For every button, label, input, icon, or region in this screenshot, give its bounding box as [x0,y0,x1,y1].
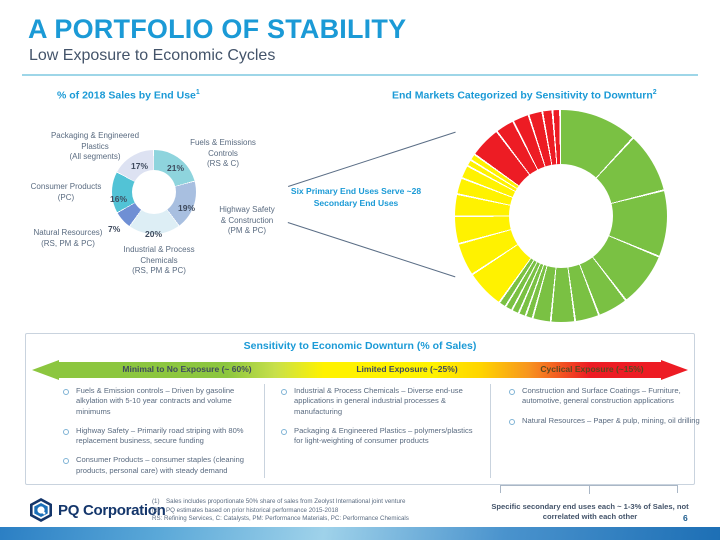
left-section-heading-footnote-marker: 1 [196,89,200,96]
header-divider [22,74,698,76]
arrow-label-minimal-exposure: Minimal to No Exposure (~ 60%) [72,364,302,374]
footnote-1-text: Sales includes proportionate 50% share o… [166,498,405,507]
right-section-heading-footnote-marker: 2 [653,89,657,96]
page-subtitle: Low Exposure to Economic Cycles [29,47,275,65]
end-markets-sensitivity-donut-chart [455,110,667,322]
donut-right-center-hole [509,164,613,268]
left-section-heading-text: % of 2018 Sales by End Use [57,90,196,102]
donut-label-natural-resources: Natural Resources) (RS, PM & PC) [24,228,112,249]
donut-center-hole [132,170,176,214]
slide: A PORTFOLIO OF STABILITY Low Exposure to… [0,0,720,540]
footnote-2-number: (2) [152,507,166,516]
footnote-1: (1) Sales includes proportionate 50% sha… [152,498,409,507]
leader-line-bottom [288,222,456,277]
left-section-heading: % of 2018 Sales by End Use1 [57,89,200,102]
right-section-heading-text: End Markets Categorized by Sensitivity t… [392,90,653,102]
page-title: A PORTFOLIO OF STABILITY [28,14,406,45]
column-divider-2 [490,384,491,478]
sensitivity-panel: Sensitivity to Economic Downturn (% of S… [25,333,695,485]
footnote-abbreviations: RS: Refining Services, C: Catalysts, PM:… [152,515,409,524]
bracket-right-tick [677,485,678,493]
page-number: 6 [683,513,688,523]
donut-value-consumer-products: 16% [110,194,127,204]
list-item: Fuels & Emission controls – Driven by ga… [60,386,260,417]
donut-label-industrial-process: Industrial & Process Chemicals (RS, PM &… [104,245,214,277]
list-item: Packaging & Engineered Plastics – polyme… [278,426,483,447]
pq-corporation-logo: PQ Corporation [28,497,165,523]
list-item: Industrial & Process Chemicals – Diverse… [278,386,483,417]
donut-value-highway-safety: 19% [178,203,195,213]
list-item: Construction and Surface Coatings – Furn… [506,386,706,407]
secondary-uses-bracket [500,485,678,494]
primary-end-uses-callout: Six Primary End Uses Serve ~28 Secondary… [284,186,428,209]
list-item: Consumer Products – consumer staples (cl… [60,455,260,476]
arrow-label-cyclical-exposure: Cyclical Exposure (~15%) [502,364,682,374]
pq-hexagon-icon [28,497,54,523]
donut-value-industrial-process: 20% [145,229,162,239]
right-section-heading: End Markets Categorized by Sensitivity t… [392,89,657,102]
donut-label-packaging-plastics: Packaging & Engineered Plastics (All seg… [41,131,149,163]
list-item: Natural Resources – Paper & pulp, mining… [506,416,706,426]
list-item: Highway Safety – Primarily road striping… [60,426,260,447]
logo-wordmark: PQ Corporation [58,502,165,519]
bullet-column-minimal-exposure: Fuels & Emission controls – Driven by ga… [60,386,260,485]
secondary-uses-note: Specific secondary end uses each ~ 1-3% … [484,502,696,522]
panel-title: Sensitivity to Economic Downturn (% of S… [26,340,694,352]
bracket-middle-tick [589,485,590,494]
leader-line-top [288,132,456,187]
bracket-left-tick [500,485,501,493]
bullet-column-limited-exposure: Industrial & Process Chemicals – Diverse… [278,386,483,455]
sensitivity-gradient-arrow: Minimal to No Exposure (~ 60%) Limited E… [32,360,688,380]
footnote-1-number: (1) [152,498,166,507]
donut-value-packaging-plastics: 17% [131,161,148,171]
footnote-2-text: PQ estimates based on prior historical p… [166,507,338,516]
donut-label-fuels-emissions: Fuels & Emissions Controls (RS & C) [169,138,277,170]
footnotes: (1) Sales includes proportionate 50% sha… [152,498,409,524]
donut-label-highway-safety: Highway Safety & Construction (PM & PC) [197,205,297,237]
bullet-column-cyclical-exposure: Construction and Surface Coatings – Furn… [506,386,706,435]
footnote-2: (2) PQ estimates based on prior historic… [152,507,409,516]
arrow-left-tip-icon [32,360,59,380]
footer-accent-bar [0,527,720,540]
arrow-label-limited-exposure: Limited Exposure (~25%) [307,364,507,374]
donut-label-consumer-products: Consumer Products (PC) [21,182,111,203]
column-divider-1 [264,384,265,478]
